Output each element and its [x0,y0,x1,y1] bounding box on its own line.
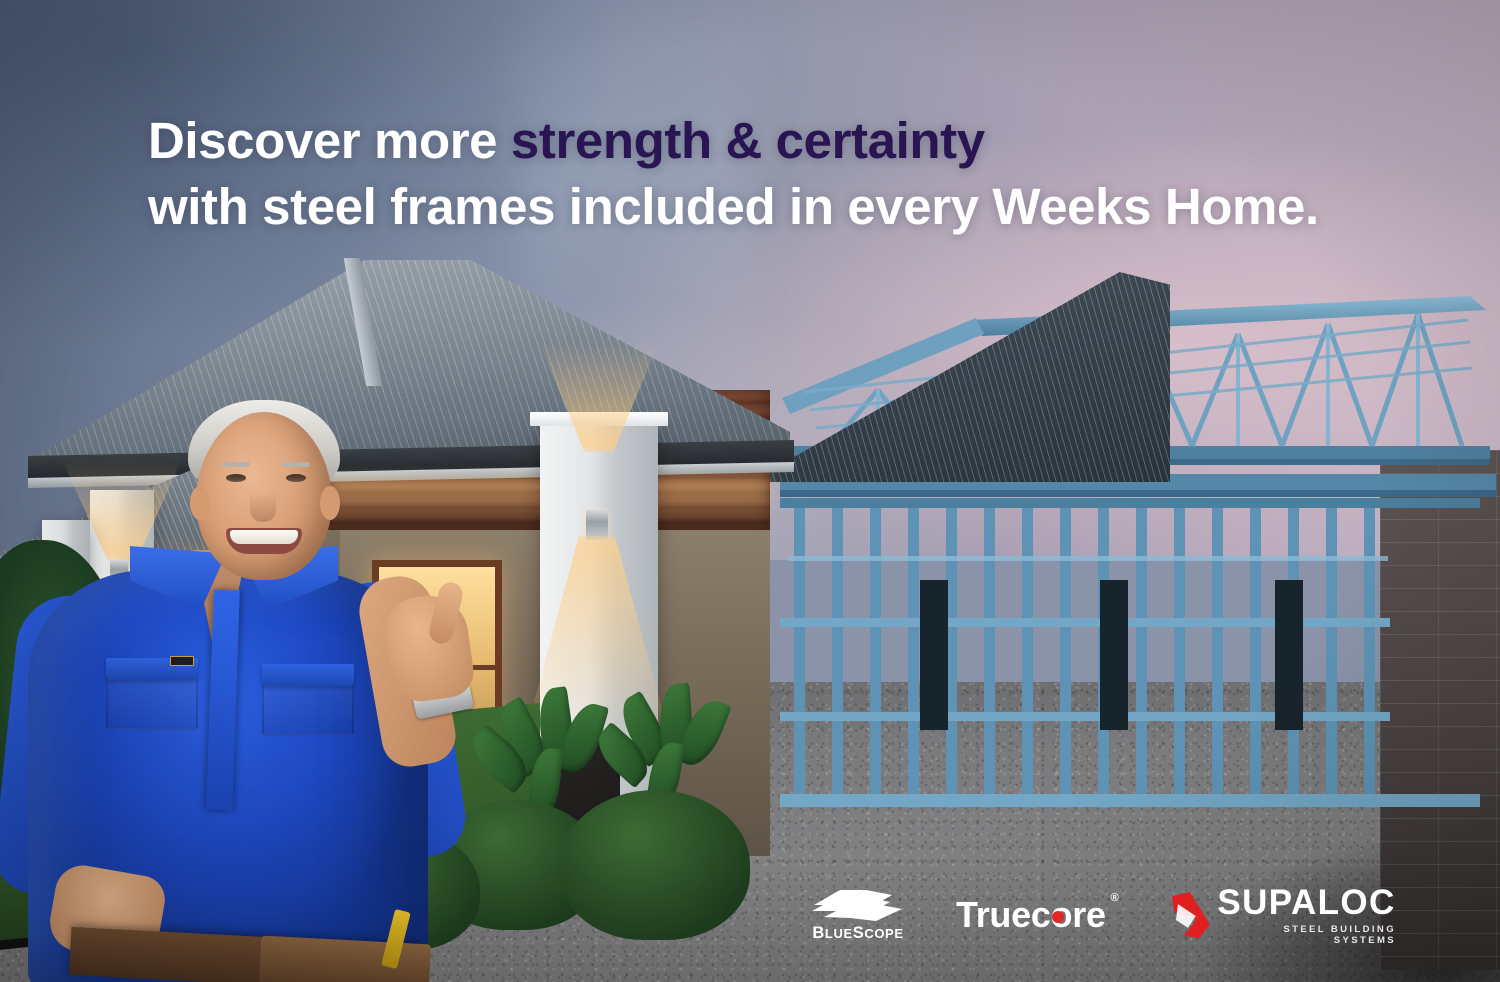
eyebrow-left [222,462,250,467]
bluescope-b: B [812,924,825,942]
supaloc-wordmark: SUPALOC [1217,885,1396,920]
nose [250,492,276,522]
bluescope-wordmark: BLUESCOPE [812,924,903,943]
eye-right [286,474,306,482]
tool-pouch [259,936,431,982]
eye-left [226,474,246,482]
truecore-logo[interactable]: Truecore ® [956,894,1106,936]
headline-line-2: with steel frames included in every Week… [148,174,1348,240]
wall-framing-svg [770,498,1500,828]
teeth [230,530,298,544]
supaloc-tagline: STEEL BUILDING SYSTEMS [1217,924,1396,946]
wall-light-main [586,510,608,540]
eyebrow-right [282,462,310,467]
truecore-red-dot-icon [1052,911,1064,923]
supaloc-red-mark-icon [1170,890,1214,940]
partner-logo-bar: BLUESCOPE Truecore ® SUPALOC STEEL BUILD… [810,880,1330,950]
bluescope-wave-icon [810,887,906,921]
ear-right [320,486,340,520]
bluescope-lue: LUE [825,926,853,941]
frame-opening [1275,580,1303,730]
supaloc-logo[interactable]: SUPALOC STEEL BUILDING SYSTEMS [1170,885,1396,946]
hand-pointing [381,591,477,705]
steel-frame-structure [770,250,1500,810]
smiling-mouth [226,528,302,554]
bluescope-s: S [853,924,865,942]
headline: Discover more strength & certainty with … [148,108,1348,241]
headline-line-1-plain: Discover more [148,112,511,169]
headline-line-1: Discover more strength & certainty [148,108,1348,174]
frame-opening [1100,580,1128,730]
banner-image: Discover more strength & certainty with … [0,0,1500,982]
bluescope-logo[interactable]: BLUESCOPE [810,887,906,943]
registered-trademark-icon: ® [1111,892,1119,904]
supaloc-text-block: SUPALOC STEEL BUILDING SYSTEMS [1217,885,1396,946]
hedge-2 [560,790,750,940]
ear-left [190,486,210,520]
frame-opening [920,580,948,730]
shirt-pocket-flap-right [262,664,354,686]
headline-accent-phrase: strength & certainty [511,112,985,169]
brand-tag [170,656,194,666]
person-presenter [10,400,480,982]
bluescope-cope: COPE [864,926,903,941]
truecore-wordmark: Truecore [956,894,1106,936]
